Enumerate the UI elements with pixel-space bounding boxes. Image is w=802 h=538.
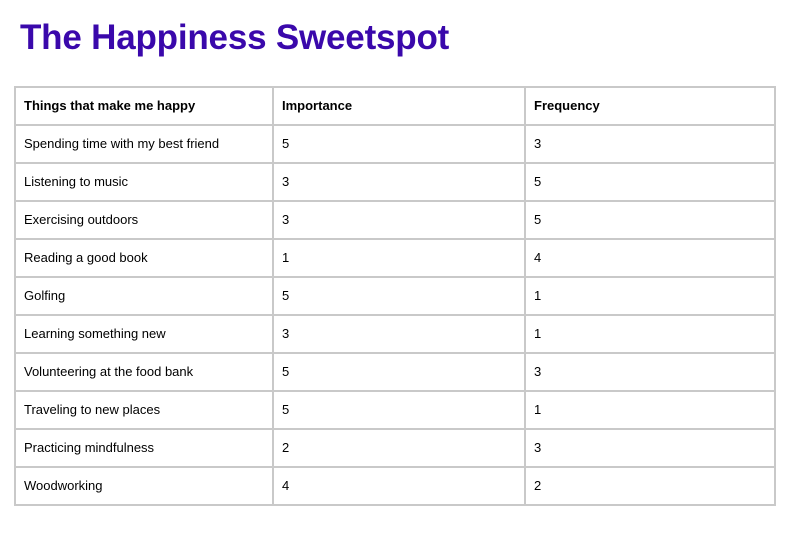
table-row: Practicing mindfulness23 bbox=[15, 429, 775, 467]
cell-frequency: 4 bbox=[525, 239, 775, 277]
cell-activity: Listening to music bbox=[15, 163, 273, 201]
cell-activity: Woodworking bbox=[15, 467, 273, 505]
page-title: The Happiness Sweetspot bbox=[20, 16, 449, 60]
cell-activity: Exercising outdoors bbox=[15, 201, 273, 239]
cell-frequency: 3 bbox=[525, 353, 775, 391]
table-row: Exercising outdoors35 bbox=[15, 201, 775, 239]
cell-importance: 5 bbox=[273, 391, 525, 429]
table-body: Spending time with my best friend53Liste… bbox=[15, 125, 775, 505]
table-row: Traveling to new places51 bbox=[15, 391, 775, 429]
slide-canvas: The Happiness Sweetspot Things that make… bbox=[0, 0, 802, 538]
table-row: Reading a good book14 bbox=[15, 239, 775, 277]
column-header-importance: Importance bbox=[273, 87, 525, 125]
cell-importance: 3 bbox=[273, 201, 525, 239]
cell-importance: 5 bbox=[273, 277, 525, 315]
cell-importance: 3 bbox=[273, 315, 525, 353]
cell-frequency: 1 bbox=[525, 315, 775, 353]
table-container: Things that make me happy Importance Fre… bbox=[14, 86, 776, 506]
cell-activity: Volunteering at the food bank bbox=[15, 353, 273, 391]
cell-importance: 4 bbox=[273, 467, 525, 505]
table-row: Listening to music35 bbox=[15, 163, 775, 201]
cell-frequency: 5 bbox=[525, 163, 775, 201]
cell-importance: 2 bbox=[273, 429, 525, 467]
cell-importance: 5 bbox=[273, 353, 525, 391]
cell-importance: 1 bbox=[273, 239, 525, 277]
cell-frequency: 2 bbox=[525, 467, 775, 505]
table-row: Spending time with my best friend53 bbox=[15, 125, 775, 163]
cell-activity: Learning something new bbox=[15, 315, 273, 353]
table-row: Golfing51 bbox=[15, 277, 775, 315]
cell-importance: 3 bbox=[273, 163, 525, 201]
column-header-frequency: Frequency bbox=[525, 87, 775, 125]
cell-frequency: 1 bbox=[525, 277, 775, 315]
happiness-table: Things that make me happy Importance Fre… bbox=[14, 86, 776, 506]
cell-activity: Traveling to new places bbox=[15, 391, 273, 429]
cell-frequency: 5 bbox=[525, 201, 775, 239]
cell-activity: Practicing mindfulness bbox=[15, 429, 273, 467]
table-row: Learning something new31 bbox=[15, 315, 775, 353]
column-header-activity: Things that make me happy bbox=[15, 87, 273, 125]
cell-importance: 5 bbox=[273, 125, 525, 163]
cell-frequency: 3 bbox=[525, 125, 775, 163]
table-row: Woodworking42 bbox=[15, 467, 775, 505]
table-row: Volunteering at the food bank53 bbox=[15, 353, 775, 391]
cell-frequency: 1 bbox=[525, 391, 775, 429]
table-header-row: Things that make me happy Importance Fre… bbox=[15, 87, 775, 125]
table-header: Things that make me happy Importance Fre… bbox=[15, 87, 775, 125]
cell-activity: Reading a good book bbox=[15, 239, 273, 277]
cell-frequency: 3 bbox=[525, 429, 775, 467]
cell-activity: Spending time with my best friend bbox=[15, 125, 273, 163]
cell-activity: Golfing bbox=[15, 277, 273, 315]
